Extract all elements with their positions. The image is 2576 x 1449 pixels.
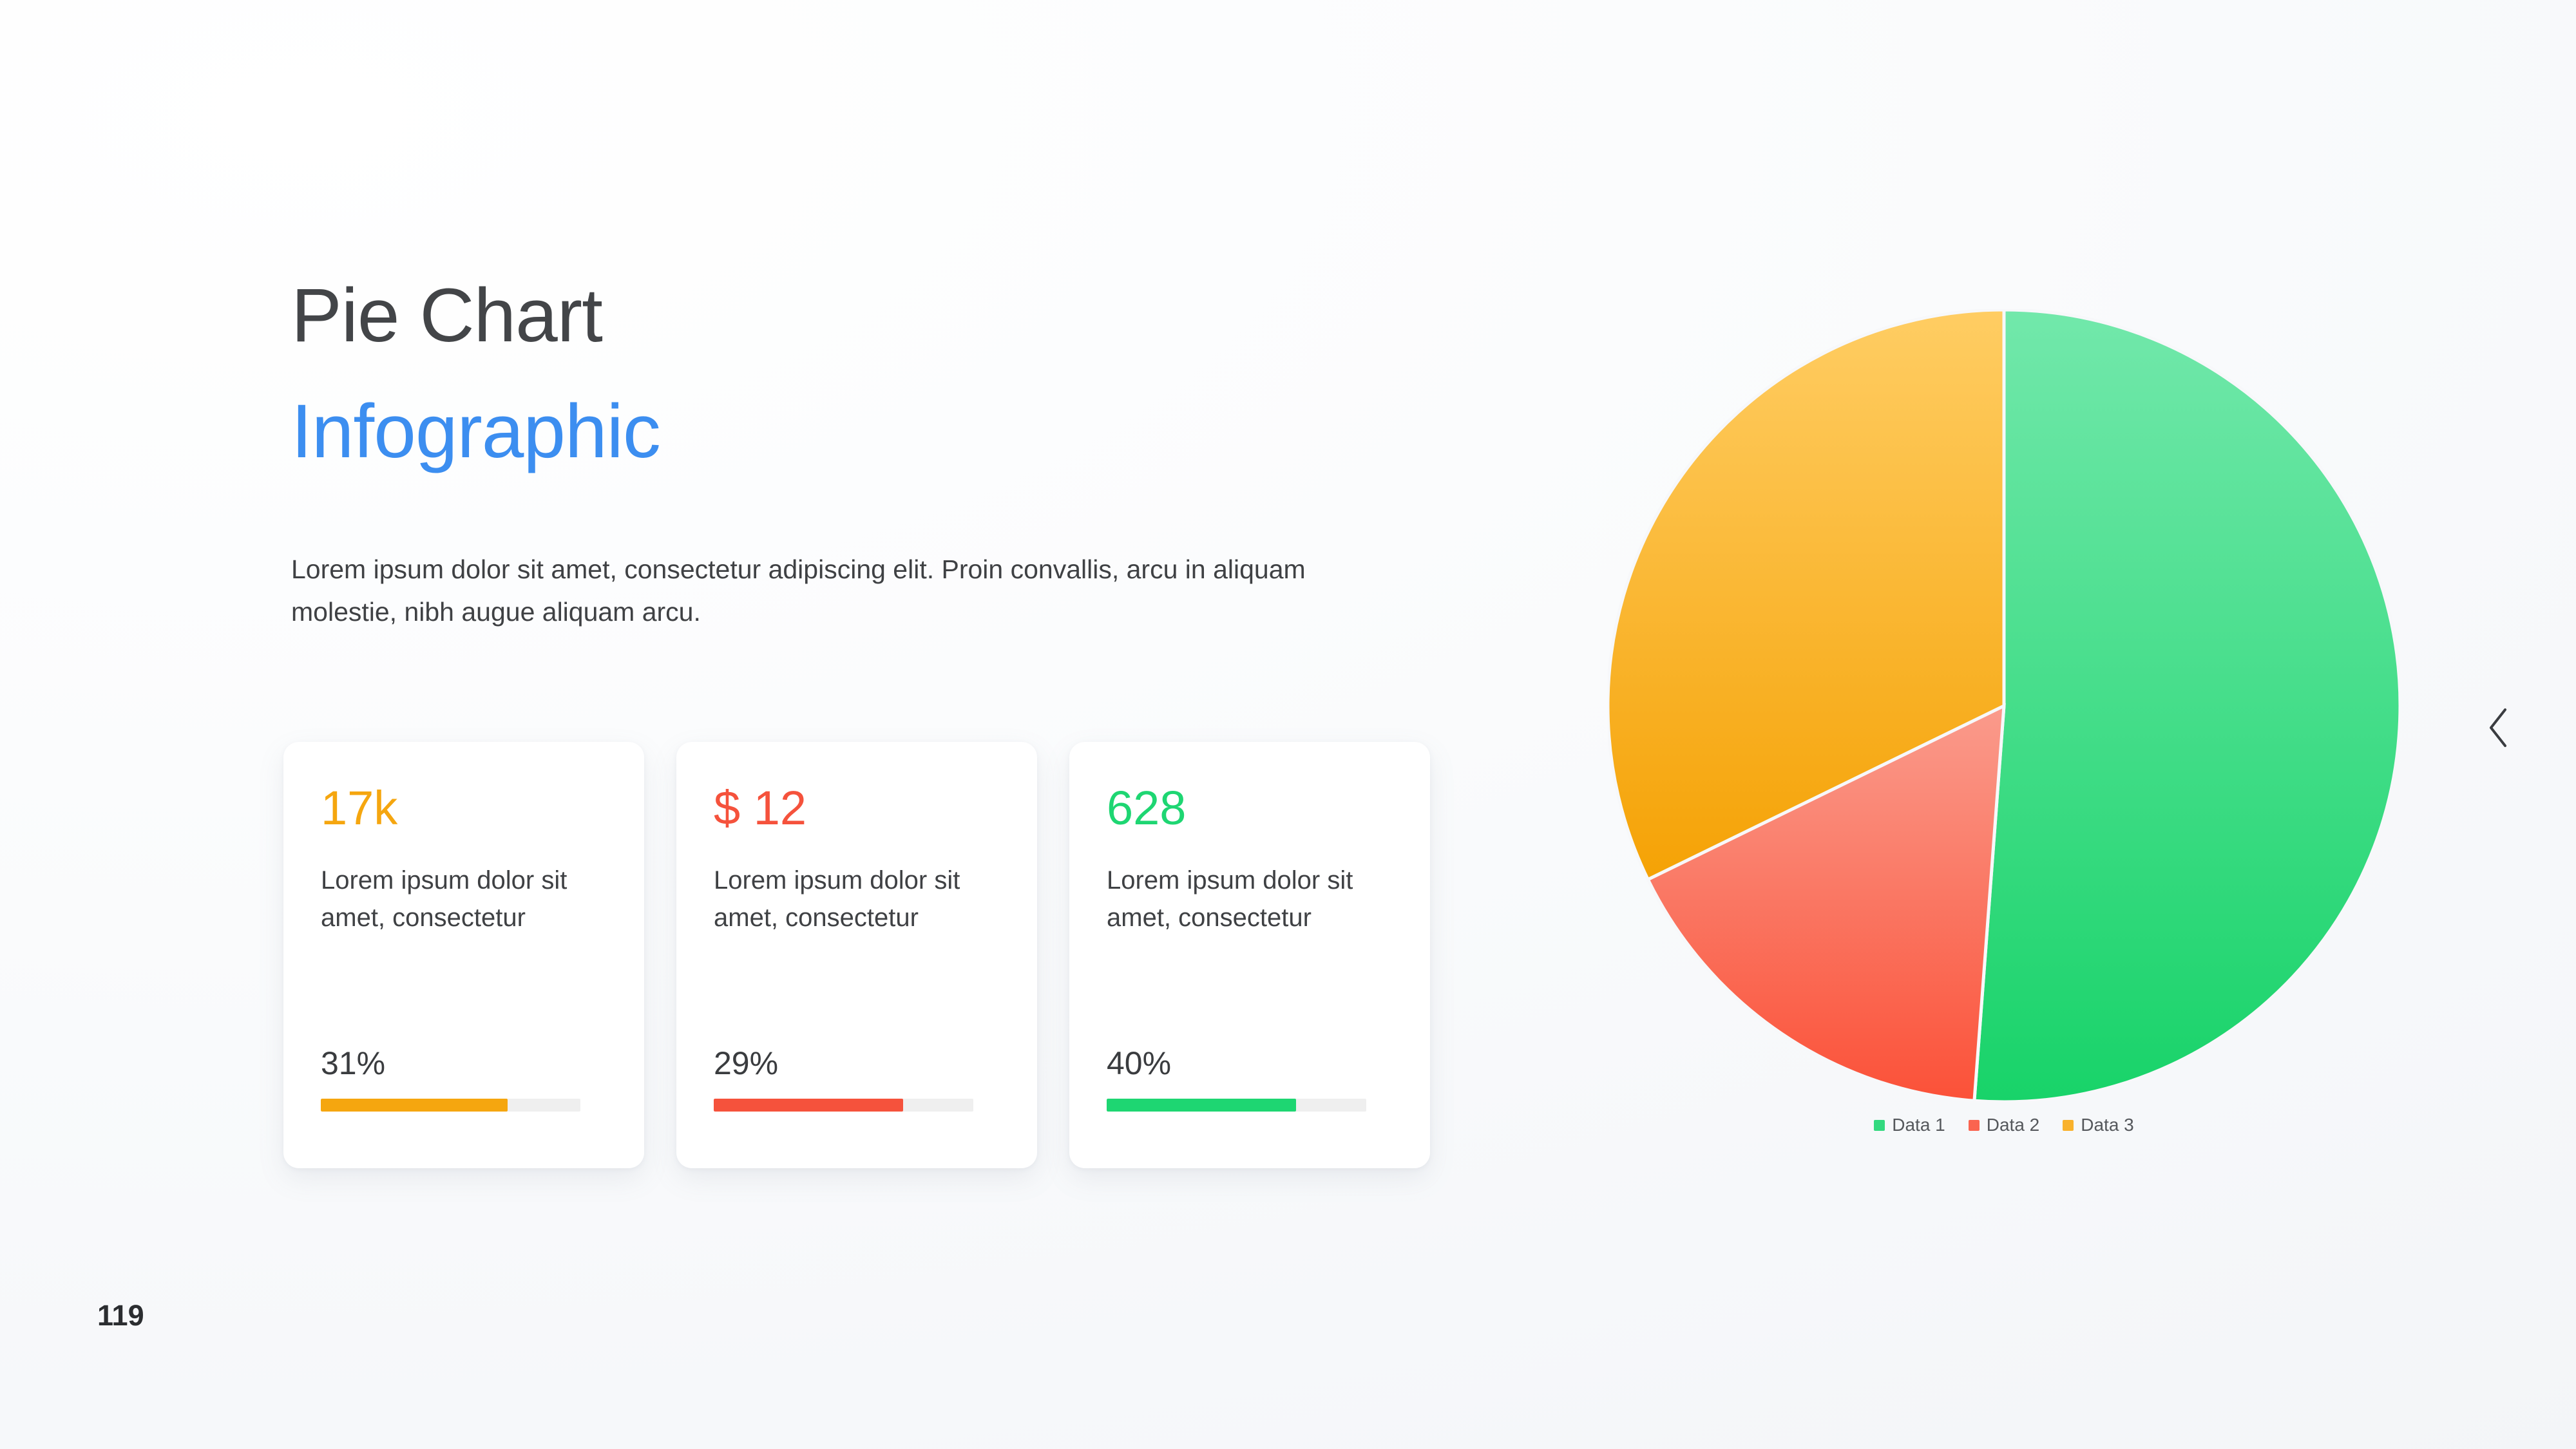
legend-swatch-icon [1969,1120,1980,1131]
legend-item[interactable]: Data 1 [1874,1116,1945,1134]
stat-percent: 40% [1107,1047,1171,1079]
legend-item[interactable]: Data 2 [1969,1116,2040,1134]
pie-slice-group [1608,310,2400,1102]
stat-value: 628 [1107,784,1393,832]
slide-canvas: Pie Chart Infographic Lorem ipsum dolor … [0,0,2576,1449]
legend-label: Data 1 [1892,1116,1945,1134]
legend-label: Data 3 [2081,1116,2134,1134]
chevron-left-icon [2485,706,2511,749]
stat-value: $ 12 [714,784,1000,832]
headline-block: Pie Chart Infographic Lorem ipsum dolor … [291,277,1470,634]
progress-bar-track [714,1099,973,1112]
progress-bar-fill [714,1099,903,1112]
legend-swatch-icon [2063,1120,2074,1131]
page-title: Pie Chart [291,277,1470,354]
stat-description: Lorem ipsum dolor sit amet, consectetur [1107,862,1393,936]
page-subtitle: Infographic [291,393,1470,470]
intro-paragraph: Lorem ipsum dolor sit amet, consectetur … [291,548,1348,634]
pie-slice-data-1[interactable] [1974,310,2400,1102]
stat-card[interactable]: 17k Lorem ipsum dolor sit amet, consecte… [283,742,644,1168]
stat-card-list: 17k Lorem ipsum dolor sit amet, consecte… [283,742,1430,1168]
page-number: 119 [97,1301,144,1330]
stat-description: Lorem ipsum dolor sit amet, consectetur [321,862,607,936]
stat-card[interactable]: 628 Lorem ipsum dolor sit amet, consecte… [1069,742,1430,1168]
pie-chart [1608,309,2400,1103]
progress-bar-track [321,1099,580,1112]
legend-item[interactable]: Data 3 [2063,1116,2134,1134]
stat-percent: 29% [714,1047,778,1079]
progress-bar-track [1107,1099,1366,1112]
progress-bar-fill [1107,1099,1296,1112]
chart-legend: Data 1 Data 2 Data 3 [1608,1116,2400,1134]
stat-percent: 31% [321,1047,385,1079]
stat-card[interactable]: $ 12 Lorem ipsum dolor sit amet, consect… [676,742,1037,1168]
progress-bar-fill [321,1099,508,1112]
pie-chart-svg [1608,309,2400,1103]
stat-value: 17k [321,784,607,832]
legend-label: Data 2 [1987,1116,2040,1134]
legend-swatch-icon [1874,1120,1885,1131]
previous-slide-button[interactable] [2476,699,2521,757]
stat-description: Lorem ipsum dolor sit amet, consectetur [714,862,1000,936]
